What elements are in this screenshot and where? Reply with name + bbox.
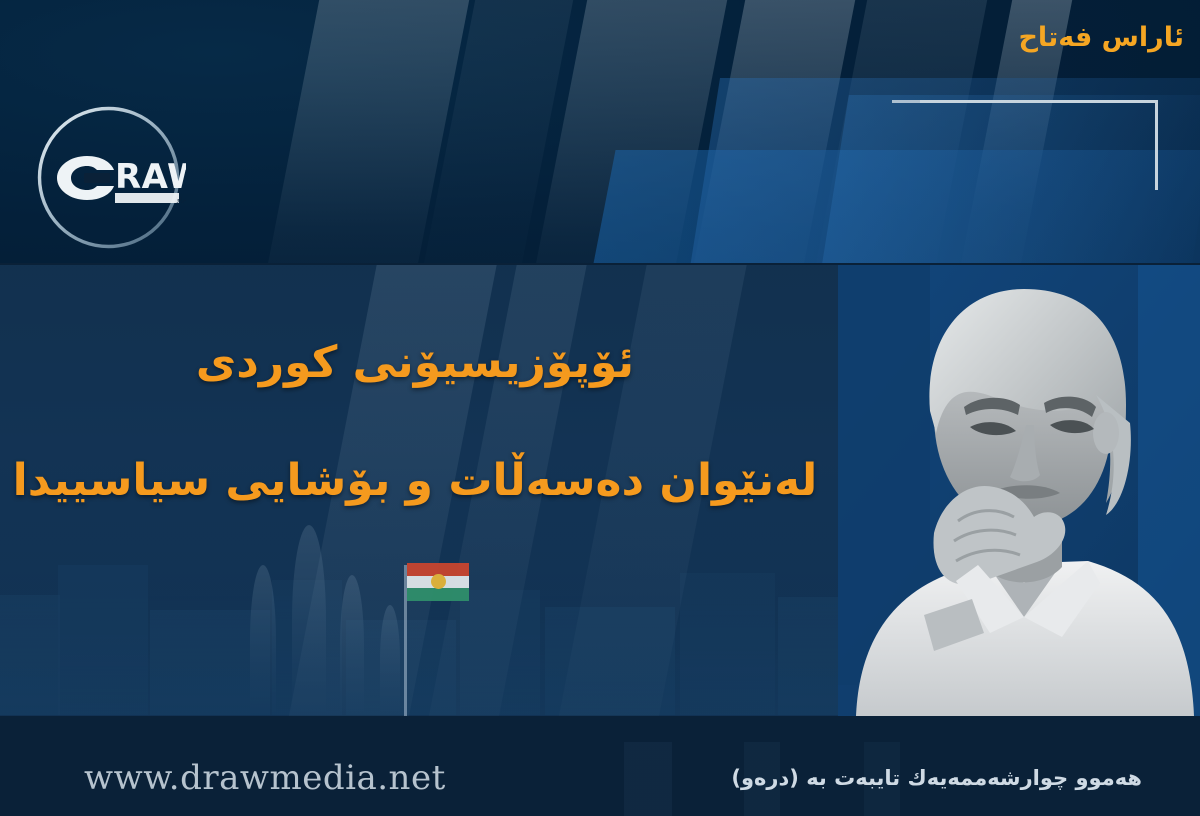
footer-note: هەموو چوارشەممەیەك تایبەت بە (درەو) (731, 766, 1142, 790)
draw-logo[interactable]: RAW دەزگای ڕۆشنبیریی دراو (31, 100, 186, 255)
header-band: RAW دەزگای ڕۆشنبیریی دراو ئاراس فەتاح (0, 0, 1200, 263)
headline: ئۆپۆزیسیۆنی کوردی لەنێوان دەسەڵات و بۆشا… (0, 335, 830, 509)
accent-band (0, 716, 1200, 742)
svg-text:RAW: RAW (115, 157, 186, 197)
headline-line-1: ئۆپۆزیسیۆنی کوردی (0, 335, 830, 391)
kurdistan-flag-icon (407, 563, 469, 601)
author-name: ئاراس فەتاح (1018, 22, 1184, 53)
footer-band: www.drawmedia.net هەموو چوارشەممەیەك تای… (0, 742, 1200, 816)
author-portrait (838, 265, 1200, 716)
site-url[interactable]: www.drawmedia.net (84, 758, 446, 798)
main-body: ئۆپۆزیسیۆنی کوردی لەنێوان دەسەڵات و بۆشا… (0, 265, 1200, 716)
author-name-box (920, 100, 1158, 190)
article-cover-card: RAW دەزگای ڕۆشنبیریی دراو ئاراس فەتاح (0, 0, 1200, 816)
headline-line-2: لەنێوان دەسەڵات و بۆشایی سیاسییدا (0, 453, 830, 509)
author-box-tick (892, 100, 922, 103)
logo-tagline: دەزگای ڕۆشنبیریی دراو (176, 195, 186, 203)
header-divider (0, 261, 1200, 263)
